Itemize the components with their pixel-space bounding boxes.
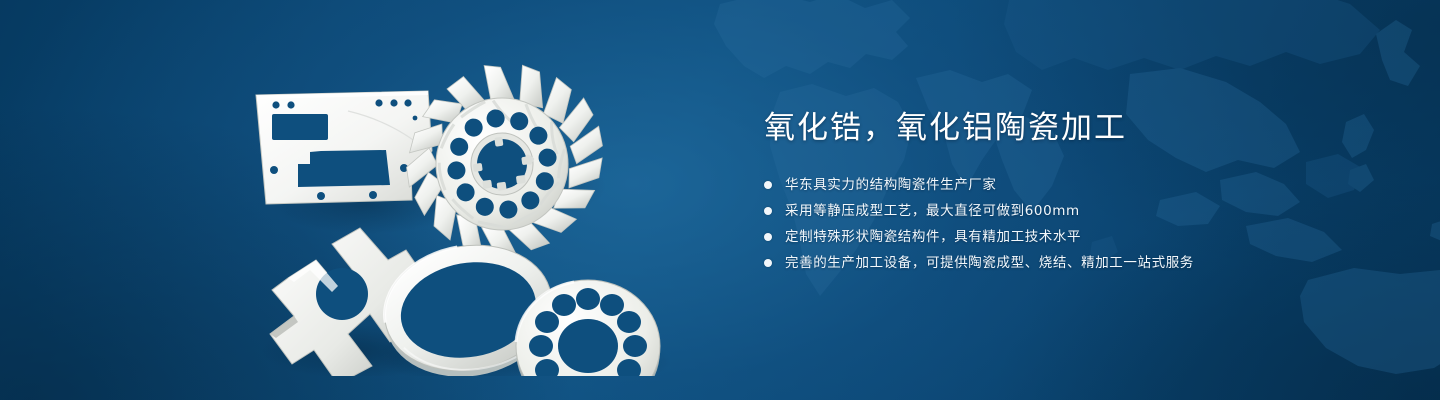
feature-list: 华东具实力的结构陶瓷件生产厂家 采用等静压成型工艺，最大直径可做到600mm 定… [764,174,1384,274]
bullet-dot-icon [764,181,772,189]
list-item: 定制特殊形状陶瓷结构件，具有精加工技术水平 [764,226,1384,248]
bullet-dot-icon [764,207,772,215]
bullet-dot-icon [764,233,772,241]
list-item: 采用等静压成型工艺，最大直径可做到600mm [764,200,1384,222]
feature-text: 华东具实力的结构陶瓷件生产厂家 [785,174,997,196]
feature-text: 完善的生产加工设备，可提供陶瓷成型、烧结、精加工一站式服务 [785,252,1194,274]
page-title: 氧化锆，氧化铝陶瓷加工 [764,108,1384,148]
feature-text: 采用等静压成型工艺，最大直径可做到600mm [785,200,1080,222]
hero-banner: 氧化锆，氧化铝陶瓷加工 华东具实力的结构陶瓷件生产厂家 采用等静压成型工艺，最大… [0,0,1440,400]
product-image-group [236,46,736,376]
bullet-dot-icon [764,259,772,267]
feature-text: 定制特殊形状陶瓷结构件，具有精加工技术水平 [785,226,1081,248]
list-item: 华东具实力的结构陶瓷件生产厂家 [764,174,1384,196]
banner-copy: 氧化锆，氧化铝陶瓷加工 华东具实力的结构陶瓷件生产厂家 采用等静压成型工艺，最大… [764,108,1384,278]
list-item: 完善的生产加工设备，可提供陶瓷成型、烧结、精加工一站式服务 [764,252,1384,274]
